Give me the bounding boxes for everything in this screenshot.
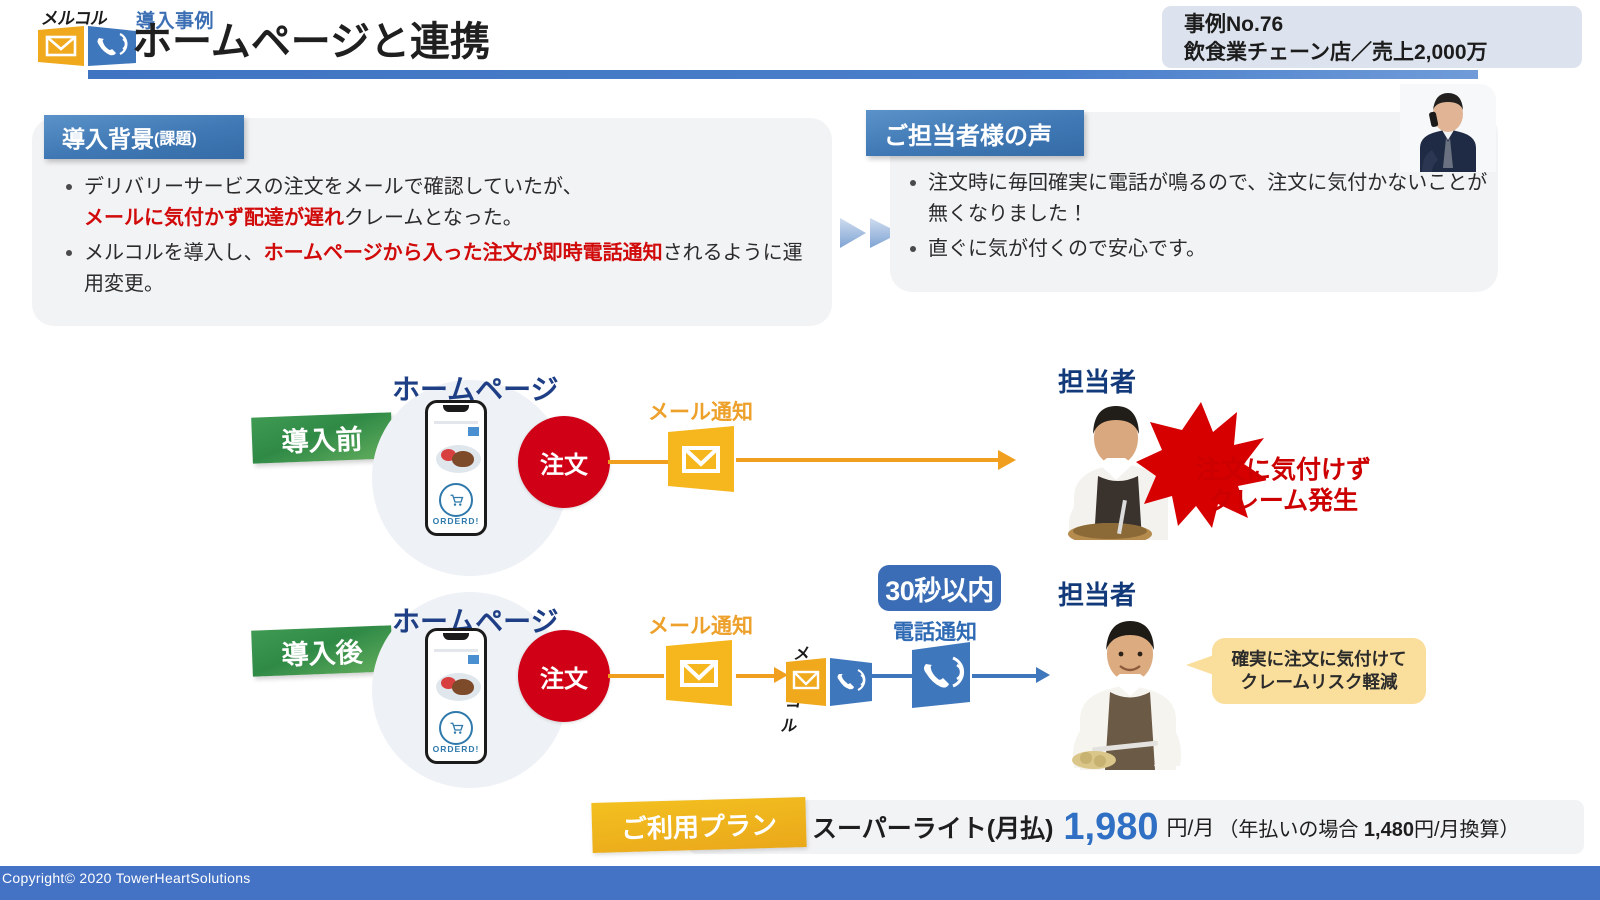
header-rule [88, 70, 1478, 79]
list-item: デリバリーサービスの注文をメールで確認していたが、メールに気付かず配達が遅れクレ… [62, 172, 822, 234]
phone-notch [443, 633, 469, 640]
slide-root: メルコル 導入事例 ホームページと連携 事例No.76 飲食業チェーン店／売上2… [0, 0, 1600, 900]
businessman-phone-photo [1400, 84, 1496, 172]
plan-text: スーパーライト(月払) 1,980 円/月 （年払いの場合 1,480円/月換算… [812, 800, 1520, 854]
background-panel-ribbon: 導入背景(課題) [44, 115, 244, 159]
mail-label-after: メール通知 [648, 610, 753, 640]
plan-unit: 円/月 [1167, 812, 1215, 842]
mail-envelope-icon [662, 638, 736, 712]
bullet-post: クレームとなった。 [344, 207, 523, 229]
case-number-badge: 事例No.76 飲食業チェーン店／売上2,000万 [1162, 6, 1582, 68]
badge-30-seconds-label: 30秒以内 [885, 569, 994, 608]
background-ribbon-main: 導入背景 [62, 120, 154, 154]
connector-mail-to-mercol [736, 674, 776, 678]
order-circle-after-label: 注文 [540, 659, 588, 694]
plan-note-price: 1,480 [1364, 819, 1414, 841]
stage-tag-after: 導入後 [251, 625, 393, 676]
brand-logo: メルコル [28, 4, 146, 66]
phone-ui-bar [434, 421, 478, 424]
food-image [436, 673, 481, 701]
arrow-head-before [998, 450, 1016, 470]
order-circle-before: 注文 [518, 416, 610, 508]
callout-after: 確実に注文に気付けて クレームリスク軽減 [1212, 638, 1426, 704]
background-ribbon-sub: (課題) [154, 125, 197, 149]
bullet-pre: メルコルを導入し、 [84, 242, 264, 264]
order-circle-before-label: 注文 [540, 445, 588, 480]
badge-30-seconds: 30秒以内 [878, 565, 1001, 611]
person-caption-after: 担当者 [1058, 575, 1136, 612]
mail-envelope-icon [664, 424, 738, 498]
plan-price: 1,980 [1063, 808, 1158, 846]
phone-notch [443, 405, 469, 412]
plan-note-pre: （年払いの場合 [1218, 819, 1364, 841]
cart-icon [439, 711, 473, 745]
stage-tag-after-label: 導入後 [281, 630, 363, 672]
callout-line1: 確実に注文に気付けて [1232, 649, 1407, 669]
bullet-highlight: ホームページから入った注文が即時電話通知 [264, 242, 663, 264]
bullet-highlight: メールに気付かず配達が遅れ [84, 207, 344, 229]
chef-smiling-photo [1046, 610, 1214, 770]
voice-ribbon-label: ご担当者様の声 [884, 116, 1052, 151]
connector-phone-to-person [972, 674, 1038, 678]
slide-header: メルコル 導入事例 ホームページと連携 事例No.76 飲食業チェーン店／売上2… [0, 0, 1600, 88]
plan-tag: ご利用プラン [591, 797, 806, 853]
phone-ui-block [468, 655, 479, 664]
phone-ui-block [468, 427, 479, 436]
stage-tag-before-label: 導入前 [281, 417, 363, 459]
mail-phone-logo-icon [784, 656, 874, 708]
mail-phone-logo-icon [36, 24, 140, 68]
voice-bullet-list: 注文時に毎回確実に電話が鳴るので、注文に気付かないことが無くなりました！ 直ぐに… [906, 168, 1494, 269]
order-circle-after: 注文 [518, 630, 610, 722]
burst-text-before: 注文に気付けず クレーム発生 [1196, 455, 1371, 516]
phone-ui-bar [434, 649, 478, 652]
plan-name: スーパーライト(月払) [812, 809, 1053, 845]
background-bullet-list: デリバリーサービスの注文をメールで確認していたが、メールに気付かず配達が遅れクレ… [62, 172, 822, 304]
plan-note-post: 円/月換算） [1414, 819, 1520, 841]
copyright-text: Copyright© 2020 TowerHeartSolutions [2, 870, 251, 886]
list-item: 注文時に毎回確実に電話が鳴るので、注文に気付かないことが無くなりました！ [906, 168, 1494, 230]
order-caption-before: ORDERD! [428, 516, 484, 526]
burst-text-line1: 注文に気付けず [1196, 456, 1371, 484]
phone-mockup-after: ORDERD! [425, 628, 487, 764]
plan-note: （年払いの場合 1,480円/月換算） [1218, 813, 1519, 842]
slide-footer: Copyright© 2020 TowerHeartSolutions [0, 866, 1600, 900]
connector-mail-to-person-before [736, 458, 1000, 462]
list-item: メルコルを導入し、ホームページから入った注文が即時電話通知されるように運用変更。 [62, 238, 822, 300]
list-item: 直ぐに気が付くので安心です。 [906, 234, 1494, 265]
connector-order-to-mail-after [608, 674, 664, 678]
phone-mockup-before: ORDERD! [425, 400, 487, 536]
page-title: ホームページと連携 [132, 22, 490, 62]
ringing-phone-icon [908, 640, 974, 710]
callout-line2: クレームリスク軽減 [1241, 672, 1398, 692]
case-badge-line2: 飲食業チェーン店／売上2,000万 [1184, 39, 1582, 67]
plan-tag-label: ご利用プラン [620, 804, 777, 845]
mail-label-before: メール通知 [648, 396, 753, 426]
voice-panel-ribbon: ご担当者様の声 [866, 110, 1084, 156]
order-caption-after: ORDERD! [428, 744, 484, 754]
food-image [436, 445, 481, 473]
cart-icon [439, 483, 473, 517]
burst-text-line2: クレーム発生 [1209, 487, 1358, 515]
callout-tail [1186, 655, 1214, 675]
bullet-pre: デリバリーサービスの注文をメールで確認していたが、 [84, 176, 583, 198]
case-badge-line1: 事例No.76 [1184, 11, 1582, 39]
stage-tag-before: 導入前 [251, 412, 393, 463]
